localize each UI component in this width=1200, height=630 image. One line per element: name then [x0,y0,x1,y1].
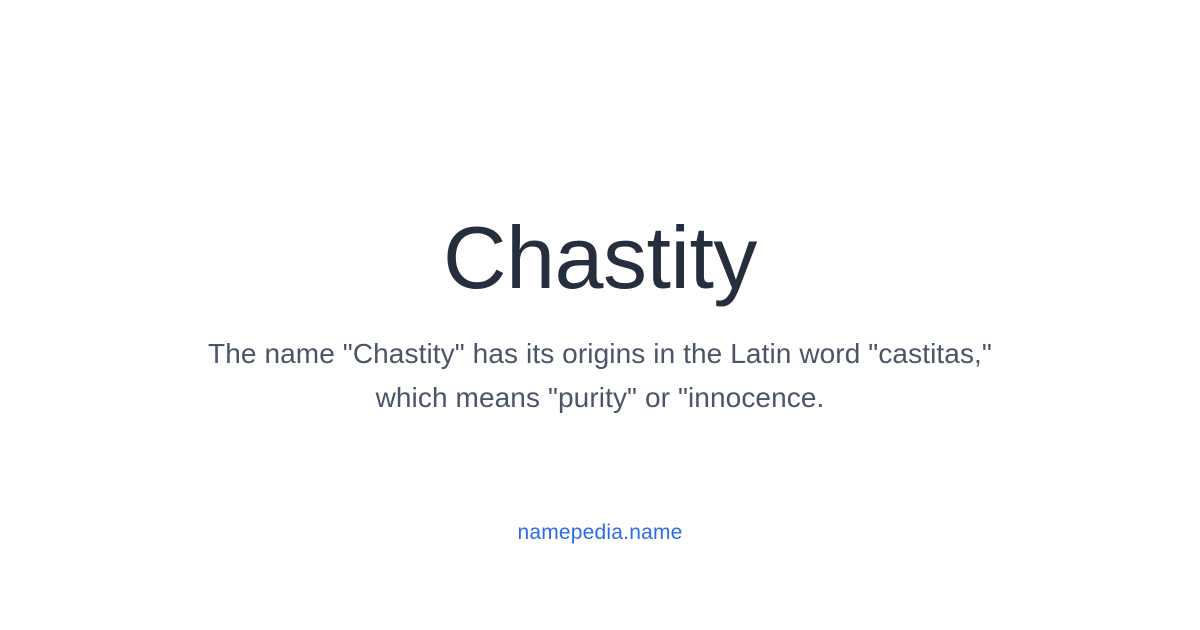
name-description: The name "Chastity" has its origins in t… [190,332,1010,420]
footer-block: namepedia.name [0,518,1200,548]
open-graph-card: Chastity The name "Chastity" has its ori… [0,0,1200,630]
page-title: Chastity [0,205,1200,310]
site-source-link[interactable]: namepedia.name [517,521,682,544]
description-block: The name "Chastity" has its origins in t… [190,332,1010,420]
title-block: Chastity [0,205,1200,310]
